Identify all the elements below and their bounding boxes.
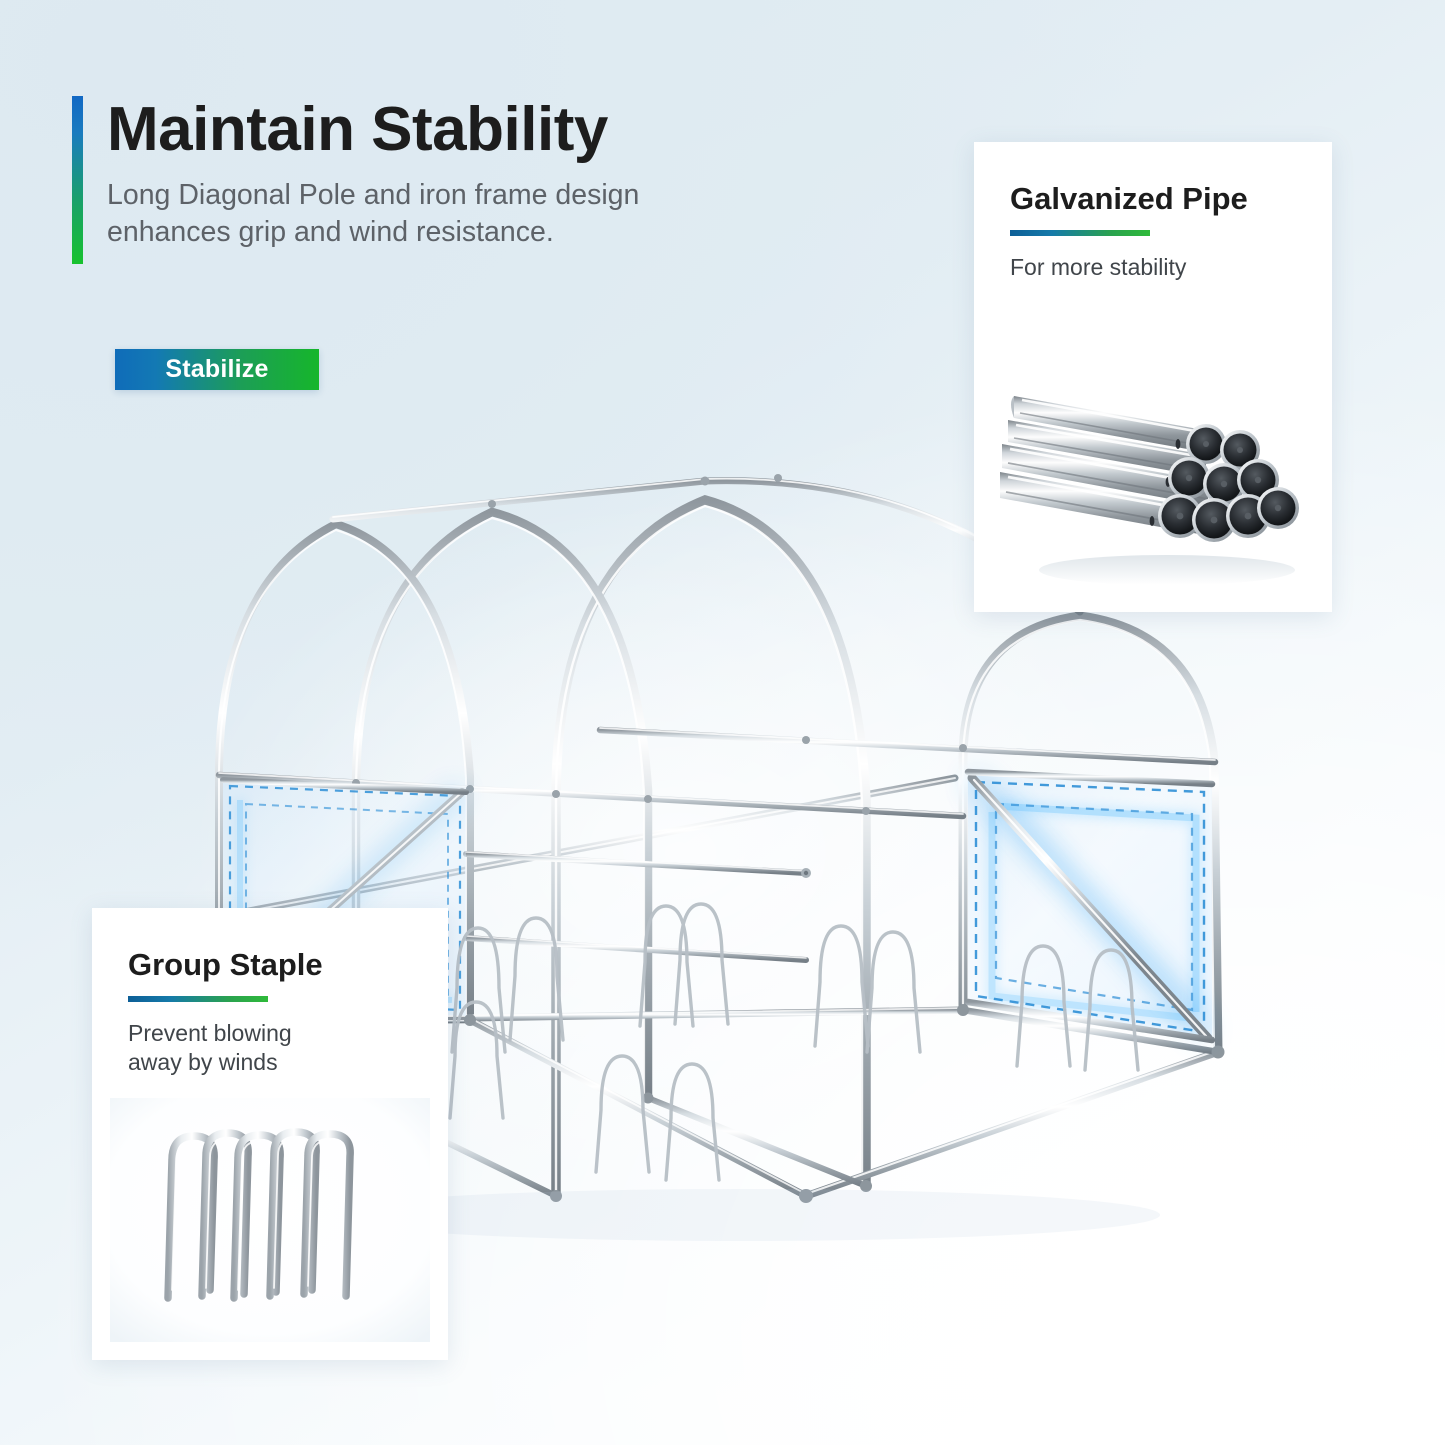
card-subtitle-group-staple: Prevent blowing away by winds [128, 1019, 412, 1077]
page-subtitle-line1: Long Diagonal Pole and iron frame design [107, 179, 639, 211]
card-rule-group-staple [128, 996, 268, 1002]
ground-staples-image [110, 1098, 430, 1342]
gradient-accent-bar [72, 96, 83, 264]
status-badge: Stabilize [115, 349, 319, 390]
card-subtitle-galvanized-pipe: For more stability [1010, 253, 1296, 282]
card-rule-galvanized-pipe [1010, 230, 1150, 236]
feature-card-group-staple: Group Staple Prevent blowing away by win… [92, 908, 448, 1360]
header-block: Maintain Stability Long Diagonal Pole an… [72, 96, 892, 264]
galvanized-pipe-bundle-image [992, 356, 1314, 594]
card-subtitle-group-staple-line1: Prevent blowing [128, 1020, 292, 1046]
page-subtitle-line2: enhances grip and wind resistance. [107, 216, 554, 248]
page-subtitle: Long Diagonal Pole and iron frame design… [107, 177, 807, 251]
card-subtitle-group-staple-line2: away by winds [128, 1049, 278, 1075]
infographic-page: Maintain Stability Long Diagonal Pole an… [0, 0, 1445, 1445]
card-title-galvanized-pipe: Galvanized Pipe [1010, 182, 1296, 217]
card-title-group-staple: Group Staple [128, 948, 412, 983]
page-title: Maintain Stability [107, 98, 892, 161]
feature-card-galvanized-pipe: Galvanized Pipe For more stability [974, 142, 1332, 612]
